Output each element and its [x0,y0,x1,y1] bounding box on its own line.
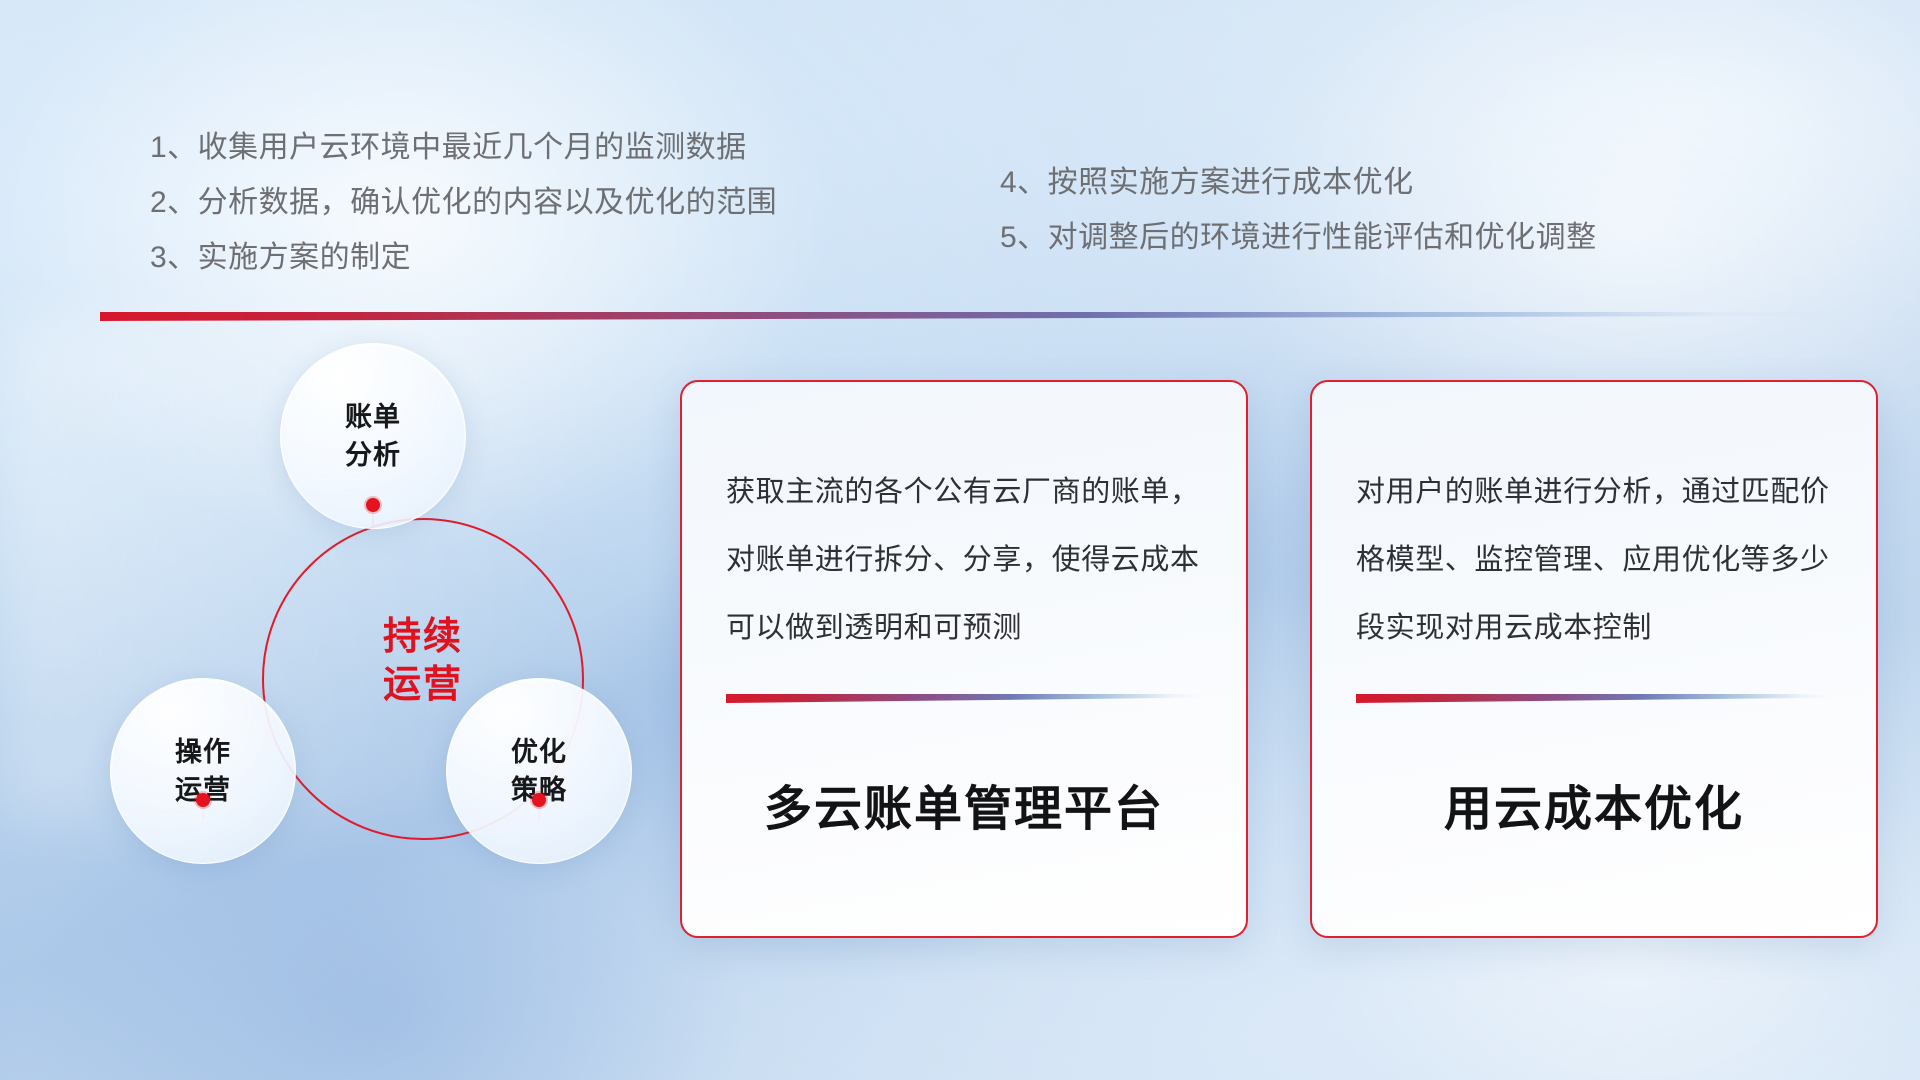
step-item-3: 3、实施方案的制定 [150,230,777,285]
feature-card-body: 获取主流的各个公有云厂商的账单，对账单进行拆分、分享，使得云成本可以做到透明和可… [726,458,1202,662]
feature-card-body: 对用户的账单进行分析，通过匹配价格模型、监控管理、应用优化等多少段实现对用云成本… [1356,458,1832,662]
step-item-4: 4、按照实施方案进行成本优化 [1000,155,1597,210]
venn-node-dot-bottom-left [196,793,210,807]
venn-bubble-top-line1: 账单 [345,398,401,436]
feature-card-title: 用云成本优化 [1356,769,1832,839]
feature-card-title: 多云账单管理平台 [726,769,1202,839]
divider-bar [100,312,1860,321]
feature-card-billing-platform[interactable]: 获取主流的各个公有云厂商的账单，对账单进行拆分、分享，使得云成本可以做到透明和可… [680,380,1248,938]
venn-bubble-bottom-right[interactable]: 优化 策略 [446,678,632,864]
feature-cards: 获取主流的各个公有云厂商的账单，对账单进行拆分、分享，使得云成本可以做到透明和可… [680,380,1880,940]
venn-center-label-line1: 持续 [262,613,584,661]
venn-diagram: 持续 运营 账单 分析 操作 运营 优化 策略 [90,355,650,935]
venn-node-dot-bottom-right [532,793,546,807]
step-item-2: 2、分析数据，确认优化的内容以及优化的范围 [150,175,777,230]
venn-bubble-bottom-left-line1: 操作 [175,733,231,771]
steps-right-column: 4、按照实施方案进行成本优化 5、对调整后的环境进行性能评估和优化调整 [1000,155,1597,265]
section-divider [100,312,1860,321]
feature-card-rule [1356,694,1832,703]
step-item-5: 5、对调整后的环境进行性能评估和优化调整 [1000,210,1597,265]
venn-bubble-bottom-left[interactable]: 操作 运营 [110,678,296,864]
feature-card-cost-optimization[interactable]: 对用户的账单进行分析，通过匹配价格模型、监控管理、应用优化等多少段实现对用云成本… [1310,380,1878,938]
feature-card-rule [726,694,1202,703]
steps-left-column: 1、收集用户云环境中最近几个月的监测数据 2、分析数据，确认优化的内容以及优化的… [150,120,777,285]
venn-bubble-bottom-right-line1: 优化 [511,733,567,771]
venn-bubble-top-line2: 分析 [345,436,401,474]
venn-node-dot-top [366,498,380,512]
step-item-1: 1、收集用户云环境中最近几个月的监测数据 [150,120,777,175]
